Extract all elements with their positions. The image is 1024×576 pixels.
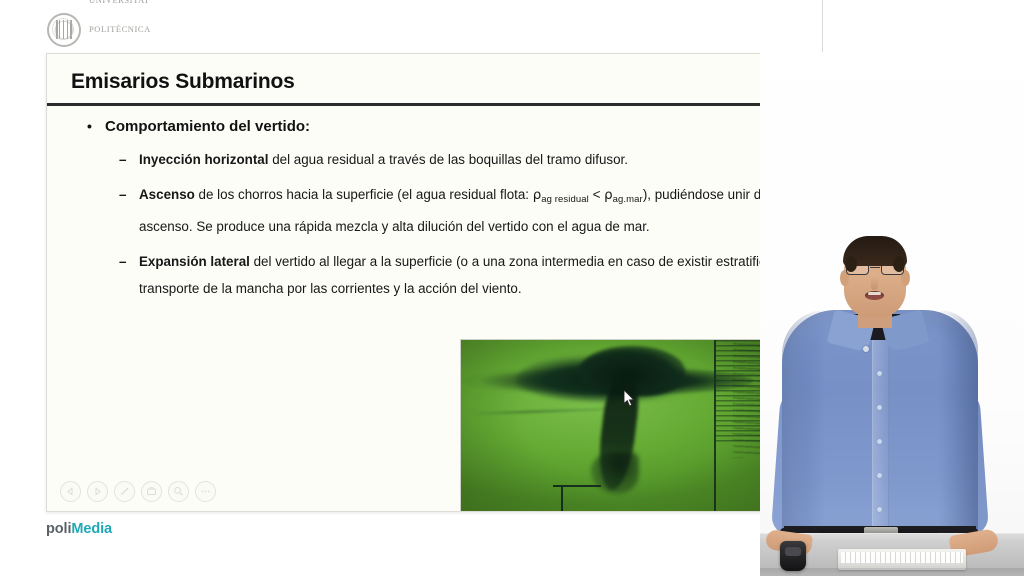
shirt-placket [872,340,889,530]
university-seal-icon [47,13,81,47]
bullet-3-lead: Expansión lateral [139,254,250,269]
zoom-button[interactable] [168,481,189,502]
university-line-2: POLITÈCNICA [89,25,151,35]
bullet-expansion-lateral: Expansión lateral del vertido al llegar … [119,248,839,302]
bullet-2-rest: de los chorros hacia la superficie (el a… [195,187,533,202]
shirt-button [877,473,882,478]
polimedia-media: Media [71,521,112,537]
presenter-nose [871,277,878,290]
bullet-1-lead: Inyección horizontal [139,152,268,167]
bullet-level1: Comportamiento del vertido: [87,116,861,138]
play-triangle-icon [93,487,102,496]
presenter-mouth [865,291,884,300]
ellipsis-icon [200,489,211,494]
previous-triangle-icon [66,487,75,496]
plume-vignette [461,340,787,512]
shirt-button [877,405,882,410]
slide-title: Emisarios Submarinos [71,70,295,94]
title-underline [47,103,861,106]
polimedia-wordmark: poliMedia [46,521,112,537]
keyboard[interactable] [838,549,966,570]
rho-agua-mar-symbol: ρ [604,188,613,203]
formula-operator: < [593,187,601,202]
bullet-2-lead: Ascenso [139,187,195,202]
shirt-button [877,507,882,512]
presenter-hair [843,236,907,266]
polimedia-poli: poli [46,521,71,537]
presenter-torso-shade-left [782,310,826,540]
rho-agua-mar-subscript: ag.mar [613,194,643,205]
university-logo: UNIVERSITAT POLITÈCNICA DE VALÈNCIA [47,11,237,49]
university-line-1: UNIVERSITAT [89,0,151,6]
previous-button[interactable] [60,481,81,502]
shirt-button [877,371,882,376]
more-button[interactable] [195,481,216,502]
player-controls[interactable] [60,481,216,502]
presenter-video [760,0,1024,576]
bullet-level1-text: Comportamiento del vertido: [105,118,310,135]
presenter-remote[interactable] [780,541,806,571]
studio-seam-line [822,0,823,52]
floor-shadow [760,568,1024,576]
eyeglass-bridge [870,267,880,268]
rho-agua-residual-subscript: ag residual [541,194,589,205]
play-button[interactable] [87,481,108,502]
bullet-ascenso: Ascenso de los chorros hacia la superfic… [119,181,839,240]
shirt-button [877,439,882,444]
pen-icon [119,486,130,497]
slide-panel[interactable]: Emisarios Submarinos Comportamiento del … [46,53,862,512]
plume-experiment-figure [460,339,788,512]
camera-icon [146,486,157,497]
slide-body: Comportamiento del vertido: Inyección ho… [47,116,861,302]
polimedia-player-stage: UNIVERSITAT POLITÈCNICA DE VALÈNCIA Emis… [0,0,1024,576]
lapel-microphone [863,346,869,352]
bullet-inyeccion-horizontal: Inyección horizontal del agua residual a… [119,146,839,173]
bullet-1-rest: del agua residual a través de las boquil… [268,152,628,167]
rho-agua-residual-symbol: ρ [533,188,542,203]
mouse-pointer-icon [624,390,636,408]
plume-photo-canvas [461,340,787,512]
magnifier-icon [173,486,184,497]
presenter-torso-shade-right [938,310,978,540]
pen-button[interactable] [114,481,135,502]
capture-button[interactable] [141,481,162,502]
